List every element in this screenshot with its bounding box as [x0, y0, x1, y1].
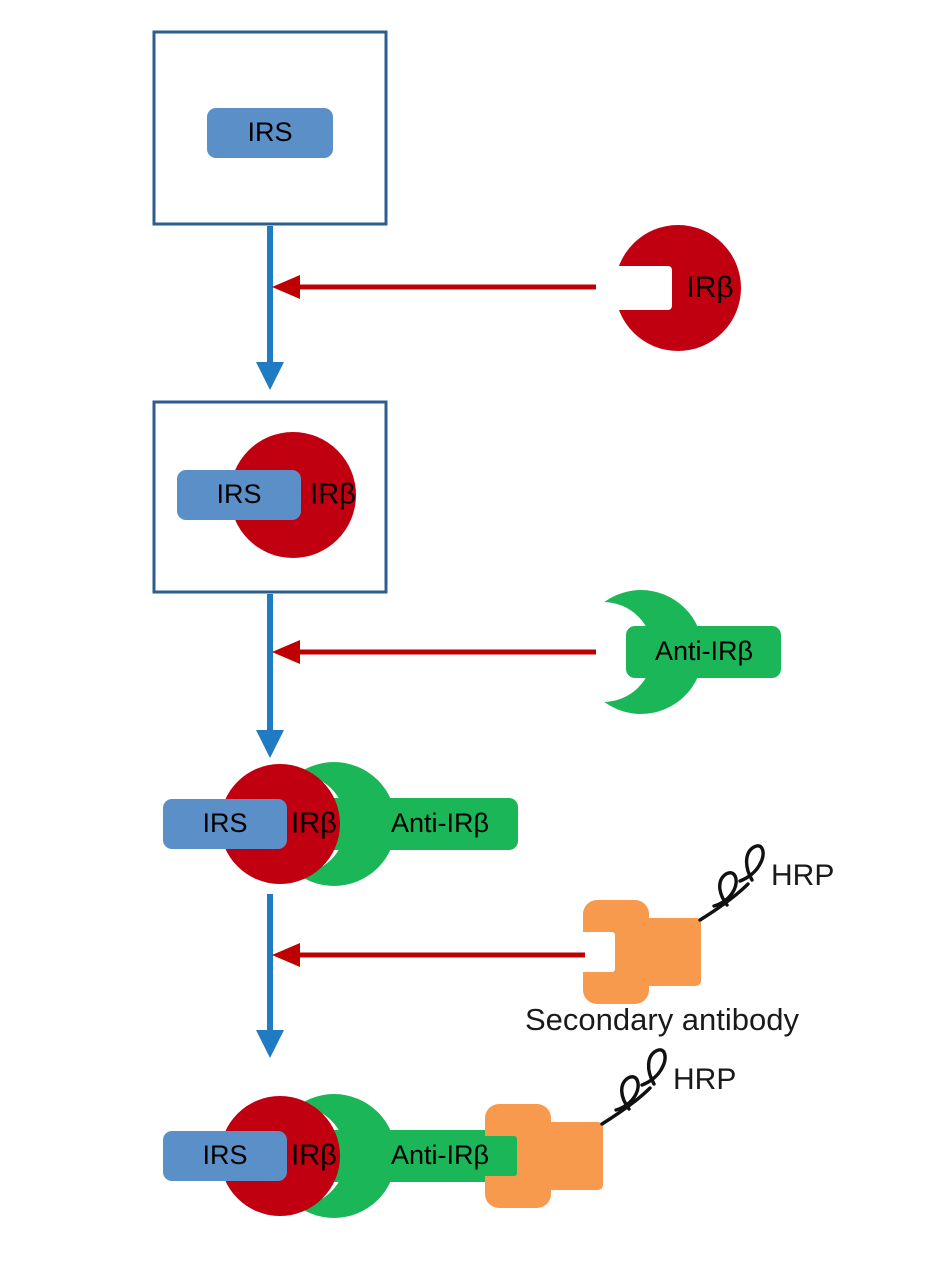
secondary-antibody-stem-reagent [641, 918, 701, 986]
secondary-antibody-label: Secondary antibody [525, 1002, 800, 1037]
irs-label-step1: IRS [247, 117, 292, 147]
reagent-arrow-1 [272, 275, 596, 299]
diagram-canvas: IRS IRβ IRS IRβ [0, 0, 934, 1272]
secondary-antibody-stem-step4 [543, 1122, 603, 1190]
irbeta-label-step3: IRβ [291, 808, 337, 840]
irbeta-reagent-label: IRβ [686, 271, 733, 304]
anti-irbeta-reagent-label: Anti-IRβ [655, 636, 753, 666]
step-3-group: IRS IRβ Anti-IRβ [163, 757, 518, 892]
step-4-group: HRP IRS IRβ Anti-IRβ [163, 1050, 736, 1224]
down-arrow-2 [256, 594, 284, 758]
irs-label-step2: IRS [216, 479, 261, 509]
reagent-anti-irbeta-group: Anti-IRβ [575, 585, 781, 720]
irbeta-label-step2: IRβ [310, 479, 356, 511]
irbeta-label-step4: IRβ [291, 1140, 337, 1172]
reagent-irbeta-group: IRβ [598, 225, 758, 351]
reagent-secondary-antibody-group: HRP Secondary antibody [525, 846, 834, 1037]
irs-label-step3: IRS [202, 808, 247, 838]
hrp-label-reagent: HRP [771, 859, 834, 892]
step-1-group: IRS [154, 32, 386, 224]
reagent-arrow-3 [272, 943, 585, 967]
hrp-squiggle-step4 [602, 1050, 665, 1124]
reagent-arrow-2 [272, 640, 596, 664]
step-2-group: IRS IRβ [154, 402, 386, 592]
irs-label-step4: IRS [202, 1140, 247, 1170]
hrp-squiggle-reagent [700, 846, 763, 920]
elisa-schematic: IRS IRβ IRS IRβ [0, 0, 934, 1272]
down-arrow-3 [256, 894, 284, 1058]
down-arrow-1 [256, 226, 284, 390]
anti-irbeta-label-step4: Anti-IRβ [391, 1140, 489, 1170]
hrp-label-step4: HRP [673, 1063, 736, 1096]
anti-irbeta-label-step3: Anti-IRβ [391, 808, 489, 838]
